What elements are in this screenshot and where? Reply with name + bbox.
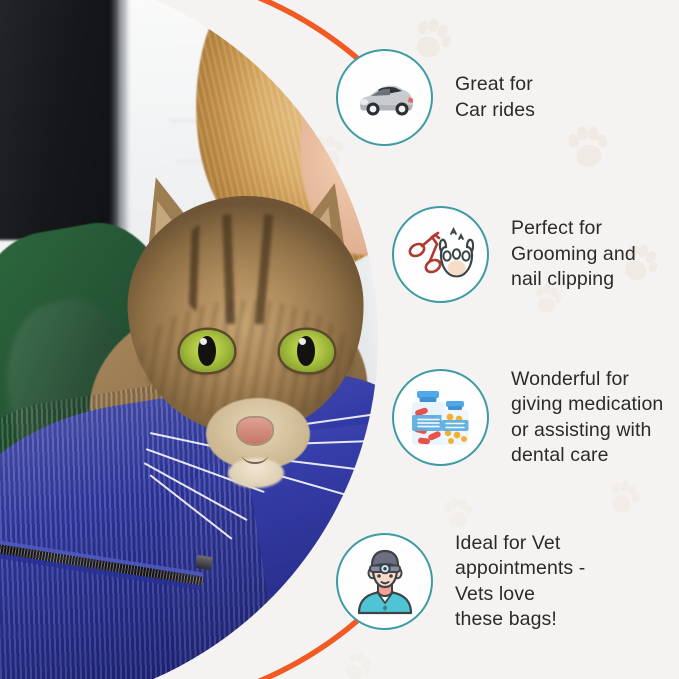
computer-monitor (0, 0, 118, 240)
feature-label: Perfect for Grooming and nail clipping (511, 216, 636, 292)
nail-clipper-paw-icon (408, 224, 474, 286)
feature-item-medication[interactable]: Wonderful for giving medication or assis… (392, 367, 663, 468)
cat-mouth (242, 446, 268, 464)
feature-label: Great for Car rides (455, 72, 535, 123)
cat-eye-glint-left (200, 338, 207, 345)
feature-item-vet-appointments[interactable]: Ideal for Vet appointments - Vets love t… (336, 531, 585, 632)
feature-icon-circle (392, 369, 489, 466)
feature-icon-circle (336, 49, 433, 146)
cat-nose (238, 418, 272, 444)
cat-eye-glint-right (299, 338, 306, 345)
product-feature-image: Great for Car rides (0, 0, 679, 679)
feature-icon-circle (392, 206, 489, 303)
feature-label: Ideal for Vet appointments - Vets love t… (455, 531, 585, 632)
feature-item-grooming[interactable]: Perfect for Grooming and nail clipping (392, 206, 636, 303)
monitor-edge (112, 0, 128, 240)
veterinarian-icon (353, 549, 417, 615)
paw-watermark (335, 645, 379, 679)
bag-zipper-pull (195, 555, 213, 570)
medicine-bottles-icon (408, 387, 474, 449)
feature-label: Wonderful for giving medication or assis… (511, 367, 663, 468)
paw-watermark (600, 474, 646, 520)
car-icon (352, 78, 418, 118)
feature-icon-circle (336, 533, 433, 630)
paw-watermark (558, 118, 616, 176)
feature-item-car-rides[interactable]: Great for Car rides (336, 49, 535, 146)
paw-watermark (437, 493, 476, 532)
